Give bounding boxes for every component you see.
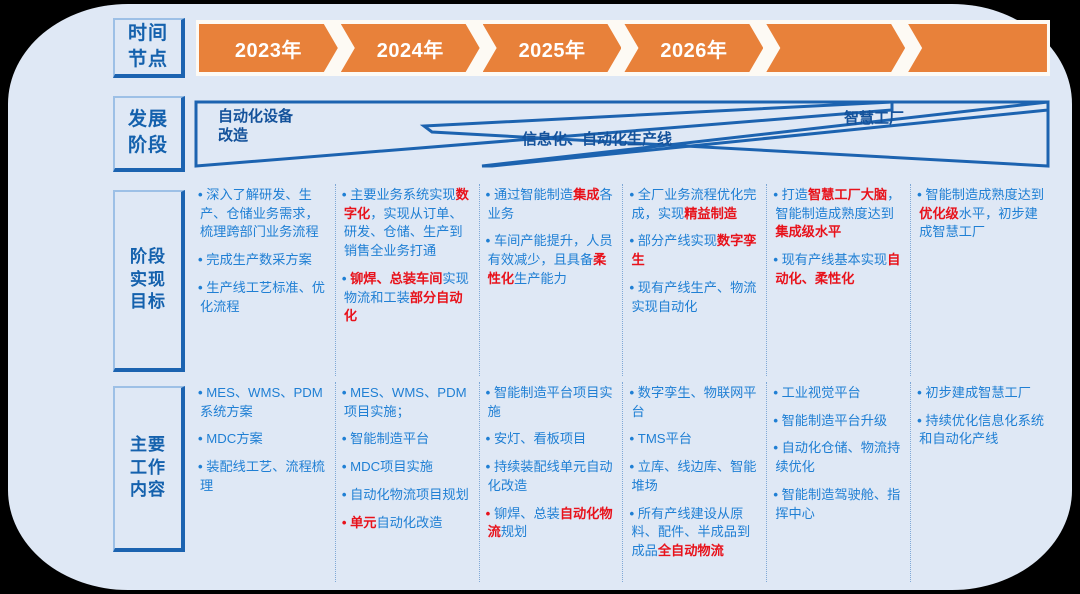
work-6-bullet: • 初步建成智慧工厂: [919, 384, 1047, 403]
timeline-chevron-label: 2024年: [377, 34, 444, 63]
bullet-dot-icon: •: [773, 413, 781, 428]
goal-1-bullet: • 完成生产数采方案: [200, 251, 328, 270]
work-4-bullet: • 数字孪生、物联网平台: [631, 384, 759, 421]
bullet-text-run: 智能制造平台升级: [782, 413, 888, 428]
goal-column-4: • 全厂业务流程优化完成，实现精益制造• 部分产线实现数字孪生• 现有产线生产、…: [623, 184, 767, 376]
goal-4-bullet: • 全厂业务流程优化完成，实现精益制造: [631, 186, 759, 223]
bullet-text-run: 初步建成智慧工厂: [925, 385, 1031, 400]
timeline-chevron-2[interactable]: 2024年: [341, 24, 480, 72]
row-label-time-line2: 节点: [128, 47, 168, 73]
work-column-4: • 数字孪生、物联网平台• TMS平台• 立库、线边库、智能堆场• 所有产线建设…: [623, 382, 767, 582]
bullet-dot-icon: •: [629, 506, 637, 521]
bullet-text-run: 数字孪生、物联网平台: [631, 385, 756, 419]
bullet-dot-icon: •: [486, 459, 494, 474]
timeline-bar: 2023年2024年2025年2026年: [196, 20, 1050, 76]
development-stage-wedges: 自动化设备 改造 信息化、自动化生产线 智慧工厂: [192, 96, 1052, 172]
row-label-goal-line2: 实现: [130, 269, 166, 292]
bullet-dot-icon: •: [486, 233, 494, 248]
bullet-text-run: 现有产线基本实现: [782, 252, 888, 267]
work-column-1: • MES、WMS、PDM系统方案• MDC方案• 装配线工艺、流程梳理: [192, 382, 336, 582]
bullet-text-run: 工业视觉平台: [782, 385, 861, 400]
row-label-time: 时间 节点: [113, 18, 185, 78]
bullet-dot-icon: •: [486, 506, 494, 521]
work-column-2: • MES、WMS、PDM项目实施；• 智能制造平台• MDC项目实施• 自动化…: [336, 382, 480, 582]
goal-column-1: • 深入了解研发、生产、仓储业务需求，梳理跨部门业务流程• 完成生产数采方案• …: [192, 184, 336, 376]
bullet-text-run: 规划: [501, 524, 527, 539]
bullet-text-run: 安灯、看板项目: [494, 431, 586, 446]
work-4-bullet: • 立库、线边库、智能堆场: [631, 458, 759, 495]
bullet-text-run: 全自动物流: [658, 543, 724, 558]
wedge-label-3: 智慧工厂: [844, 110, 904, 129]
bullet-dot-icon: •: [629, 187, 637, 202]
goal-3-bullet: • 通过智能制造集成各业务: [488, 186, 616, 223]
row-label-work-line3: 内容: [130, 479, 166, 502]
bullet-text-run: 深入了解研发、生产、仓储业务需求，梳理跨部门业务流程: [200, 187, 319, 239]
goal-2-bullet: • 铆焊、总装车间实现物流和工装部分自动化: [344, 270, 472, 326]
bullet-text-run: TMS平台: [638, 431, 692, 446]
bullet-dot-icon: •: [486, 431, 494, 446]
bullet-text-run: MDC项目实施: [350, 459, 433, 474]
row-label-goal-line1: 阶段: [130, 246, 166, 269]
bullet-text-run: 打造: [782, 187, 808, 202]
bullet-text-run: 主要业务系统实现: [350, 187, 456, 202]
bullet-dot-icon: •: [629, 459, 637, 474]
work-column-5: • 工业视觉平台• 智能制造平台升级• 自动化仓储、物流持续优化• 智能制造驾驶…: [767, 382, 911, 582]
work-2-bullet: • MES、WMS、PDM项目实施；: [344, 384, 472, 421]
timeline-chevron-label: 2026年: [660, 34, 727, 63]
bullet-text-run: MES、WMS、PDM系统方案: [200, 385, 323, 419]
goal-5-bullet: • 现有产线基本实现自动化、柔性化: [775, 251, 903, 288]
bullet-dot-icon: •: [486, 187, 494, 202]
row-label-work-line1: 主要: [130, 434, 166, 457]
bullet-text-run: MES、WMS、PDM项目实施；: [344, 385, 467, 419]
bullet-text-run: 完成生产数采方案: [206, 252, 312, 267]
goal-column-3: • 通过智能制造集成各业务• 车间产能提升，人员有效减少，且具备柔性化生产能力: [480, 184, 624, 376]
bullet-dot-icon: •: [342, 385, 350, 400]
bullet-text-run: 自动化物流项目规划: [350, 487, 469, 502]
goal-6-bullet: • 智能制造成熟度达到优化级水平，初步建成智慧工厂: [919, 186, 1047, 242]
bullet-dot-icon: •: [486, 385, 494, 400]
bullet-text-run: 精益制造: [684, 206, 737, 221]
bullet-text-run: 自动化仓储、物流持续优化: [775, 440, 900, 474]
bullet-dot-icon: •: [773, 385, 781, 400]
work-3-bullet: • 安灯、看板项目: [488, 430, 616, 449]
wedge-label-2: 信息化、自动化生产线: [522, 131, 672, 150]
bullet-text-run: 单元: [350, 515, 376, 530]
work-3-bullet: • 智能制造平台项目实施: [488, 384, 616, 421]
bullet-text-run: 装配线工艺、流程梳理: [200, 459, 325, 493]
wedge-label-1: 自动化设备 改造: [218, 108, 293, 146]
bullet-dot-icon: •: [342, 431, 350, 446]
row-label-stage: 发展 阶段: [113, 96, 185, 172]
work-3-bullet: • 铆焊、总装自动化物流规划: [488, 505, 616, 542]
bullet-text-run: 铆焊、总装车间: [350, 271, 442, 286]
work-2-bullet: • 智能制造平台: [344, 430, 472, 449]
bullet-text-run: 智能制造成熟度达到: [925, 187, 1044, 202]
goal-2-bullet: • 主要业务系统实现数字化，实现从订单、研发、仓储、生产到销售全业务打通: [344, 186, 472, 261]
work-column-6: • 初步建成智慧工厂• 持续优化信息化系统和自动化产线: [911, 382, 1054, 582]
row-label-goal-line3: 目标: [130, 291, 166, 314]
work-2-bullet: • MDC项目实施: [344, 458, 472, 477]
bullet-text-run: 持续优化信息化系统和自动化产线: [919, 413, 1044, 447]
bullet-text-run: 通过智能制造: [494, 187, 573, 202]
stage-goal-row: • 深入了解研发、生产、仓储业务需求，梳理跨部门业务流程• 完成生产数采方案• …: [192, 184, 1054, 376]
row-label-work-line2: 工作: [130, 457, 166, 480]
row-label-goal: 阶段 实现 目标: [113, 190, 185, 372]
row-label-time-line1: 时间: [128, 21, 168, 47]
timeline-chevron-5[interactable]: [766, 24, 905, 72]
bullet-text-run: 智能制造平台: [350, 431, 429, 446]
bullet-text-run: MDC方案: [206, 431, 262, 446]
work-6-bullet: • 持续优化信息化系统和自动化产线: [919, 412, 1047, 449]
bullet-dot-icon: •: [773, 252, 781, 267]
timeline-chevron-1[interactable]: 2023年: [199, 24, 338, 72]
work-5-bullet: • 自动化仓储、物流持续优化: [775, 439, 903, 476]
bullet-dot-icon: •: [773, 187, 781, 202]
goal-column-2: • 主要业务系统实现数字化，实现从订单、研发、仓储、生产到销售全业务打通• 铆焊…: [336, 184, 480, 376]
bullet-dot-icon: •: [629, 280, 637, 295]
row-label-stage-line1: 发展: [128, 107, 168, 133]
bullet-dot-icon: •: [773, 440, 781, 455]
bullet-text-run: 自动化改造: [376, 515, 442, 530]
bullet-text-run: 优化级: [919, 206, 959, 221]
work-5-bullet: • 智能制造驾驶舱、指挥中心: [775, 486, 903, 523]
work-2-bullet: • 自动化物流项目规划: [344, 486, 472, 505]
bullet-text-run: 智能制造平台项目实施: [488, 385, 613, 419]
bullet-dot-icon: •: [773, 487, 781, 502]
work-1-bullet: • 装配线工艺、流程梳理: [200, 458, 328, 495]
bullet-dot-icon: •: [342, 187, 350, 202]
goal-column-6: • 智能制造成熟度达到优化级水平，初步建成智慧工厂: [911, 184, 1054, 376]
bullet-dot-icon: •: [342, 487, 350, 502]
bullet-text-run: 现有产线生产、物流实现自动化: [631, 280, 756, 314]
bullet-text-run: 智能制造驾驶舱、指挥中心: [775, 487, 900, 521]
bullet-text-run: 生产线工艺标准、优化流程: [200, 280, 325, 314]
bullet-dot-icon: •: [629, 431, 637, 446]
work-1-bullet: • MES、WMS、PDM系统方案: [200, 384, 328, 421]
bullet-text-run: 集成级水平: [775, 224, 841, 239]
bullet-text-run: 立库、线边库、智能堆场: [631, 459, 756, 493]
timeline-chevron-label: 2025年: [519, 34, 586, 63]
timeline-chevron-label: 2023年: [235, 34, 302, 63]
work-2-bullet: • 单元自动化改造: [344, 514, 472, 533]
work-3-bullet: • 持续装配线单元自动化改造: [488, 458, 616, 495]
goal-4-bullet: • 部分产线实现数字孪生: [631, 232, 759, 269]
row-label-stage-line2: 阶段: [128, 133, 168, 159]
bullet-text-run: 持续装配线单元自动化改造: [488, 459, 613, 493]
timeline-chevron-6[interactable]: [908, 24, 1047, 72]
work-1-bullet: • MDC方案: [200, 430, 328, 449]
goal-column-5: • 打造智慧工厂大脑，智能制造成熟度达到集成级水平• 现有产线基本实现自动化、柔…: [767, 184, 911, 376]
work-5-bullet: • 智能制造平台升级: [775, 412, 903, 431]
goal-4-bullet: • 现有产线生产、物流实现自动化: [631, 279, 759, 316]
bullet-text-run: 智慧工厂大脑: [808, 187, 887, 202]
bullet-text-run: 部分产线实现: [638, 233, 717, 248]
bullet-dot-icon: •: [342, 459, 350, 474]
work-5-bullet: • 工业视觉平台: [775, 384, 903, 403]
main-work-row: • MES、WMS、PDM系统方案• MDC方案• 装配线工艺、流程梳理• ME…: [192, 382, 1054, 582]
work-column-3: • 智能制造平台项目实施• 安灯、看板项目• 持续装配线单元自动化改造• 铆焊、…: [480, 382, 624, 582]
timeline-chevron-3[interactable]: 2025年: [483, 24, 622, 72]
bullet-dot-icon: •: [342, 515, 350, 530]
bullet-text-run: 生产能力: [514, 271, 567, 286]
work-4-bullet: • 所有产线建设从原料、配件、半成品到成品全自动物流: [631, 505, 759, 561]
bullet-dot-icon: •: [629, 385, 637, 400]
row-label-work: 主要 工作 内容: [113, 386, 185, 552]
goal-5-bullet: • 打造智慧工厂大脑，智能制造成熟度达到集成级水平: [775, 186, 903, 242]
bullet-text-run: 集成: [573, 187, 599, 202]
bullet-dot-icon: •: [342, 271, 350, 286]
work-4-bullet: • TMS平台: [631, 430, 759, 449]
slide-root: 时间 节点 发展 阶段 阶段 实现 目标 主要 工作 内容 2023年2024年…: [0, 0, 1080, 594]
timeline-chevron-4[interactable]: 2026年: [624, 24, 763, 72]
bullet-dot-icon: •: [629, 233, 637, 248]
goal-1-bullet: • 深入了解研发、生产、仓储业务需求，梳理跨部门业务流程: [200, 186, 328, 242]
bullet-text-run: 铆焊、总装: [494, 506, 560, 521]
goal-1-bullet: • 生产线工艺标准、优化流程: [200, 279, 328, 316]
goal-3-bullet: • 车间产能提升，人员有效减少，且具备柔性化生产能力: [488, 232, 616, 288]
